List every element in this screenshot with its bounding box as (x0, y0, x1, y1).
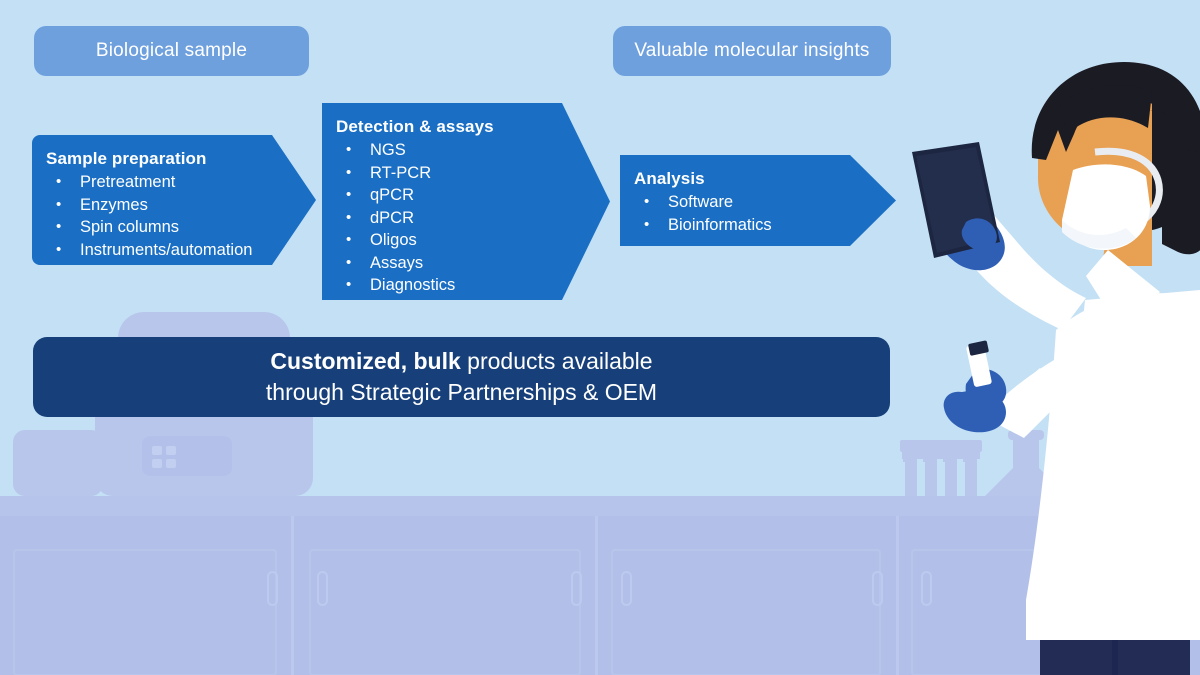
detection-assays-title: Detection & assays (336, 117, 610, 137)
list-item: qPCR (322, 184, 610, 207)
analysis-list: Software Bioinformatics (620, 191, 896, 236)
list-item: Bioinformatics (620, 214, 896, 237)
pill-biological-sample-label: Biological sample (96, 40, 247, 62)
pill-biological-sample: Biological sample (34, 26, 309, 76)
list-item: Enzymes (32, 194, 316, 217)
pill-valuable-molecular-insights: Valuable molecular insights (613, 26, 891, 76)
flow-step-analysis: Analysis Software Bioinformatics (620, 155, 896, 246)
analysis-title: Analysis (634, 169, 896, 189)
infographic-canvas: Biological sample Valuable molecular ins… (0, 0, 1200, 675)
list-item: Spin columns (32, 216, 316, 239)
list-item: Software (620, 191, 896, 214)
list-item: Assays (322, 252, 610, 275)
list-item: dPCR (322, 207, 610, 230)
banner-line-1: Customized, bulk products available (270, 346, 652, 377)
flow-step-detection-assays: Detection & assays NGS RT-PCR qPCR dPCR … (322, 103, 610, 300)
list-item: Instruments/automation (32, 239, 316, 262)
banner-bold-text: Customized, bulk (270, 348, 460, 374)
flow-step-sample-preparation: Sample preparation Pretreatment Enzymes … (32, 135, 316, 265)
pill-valuable-molecular-insights-label: Valuable molecular insights (634, 40, 869, 62)
list-item: NGS (322, 139, 610, 162)
list-item: RT-PCR (322, 162, 610, 185)
sample-preparation-list: Pretreatment Enzymes Spin columns Instru… (32, 171, 316, 261)
list-item: Oligos (322, 229, 610, 252)
sample-preparation-title: Sample preparation (46, 149, 316, 169)
detection-assays-list: NGS RT-PCR qPCR dPCR Oligos Assays Diagn… (322, 139, 610, 297)
banner-line-2: through Strategic Partnerships & OEM (266, 377, 657, 408)
list-item: Pretreatment (32, 171, 316, 194)
banner-rest-text: products available (461, 348, 653, 374)
lab-bench (0, 496, 1200, 675)
customized-bulk-banner: Customized, bulk products available thro… (33, 337, 890, 417)
